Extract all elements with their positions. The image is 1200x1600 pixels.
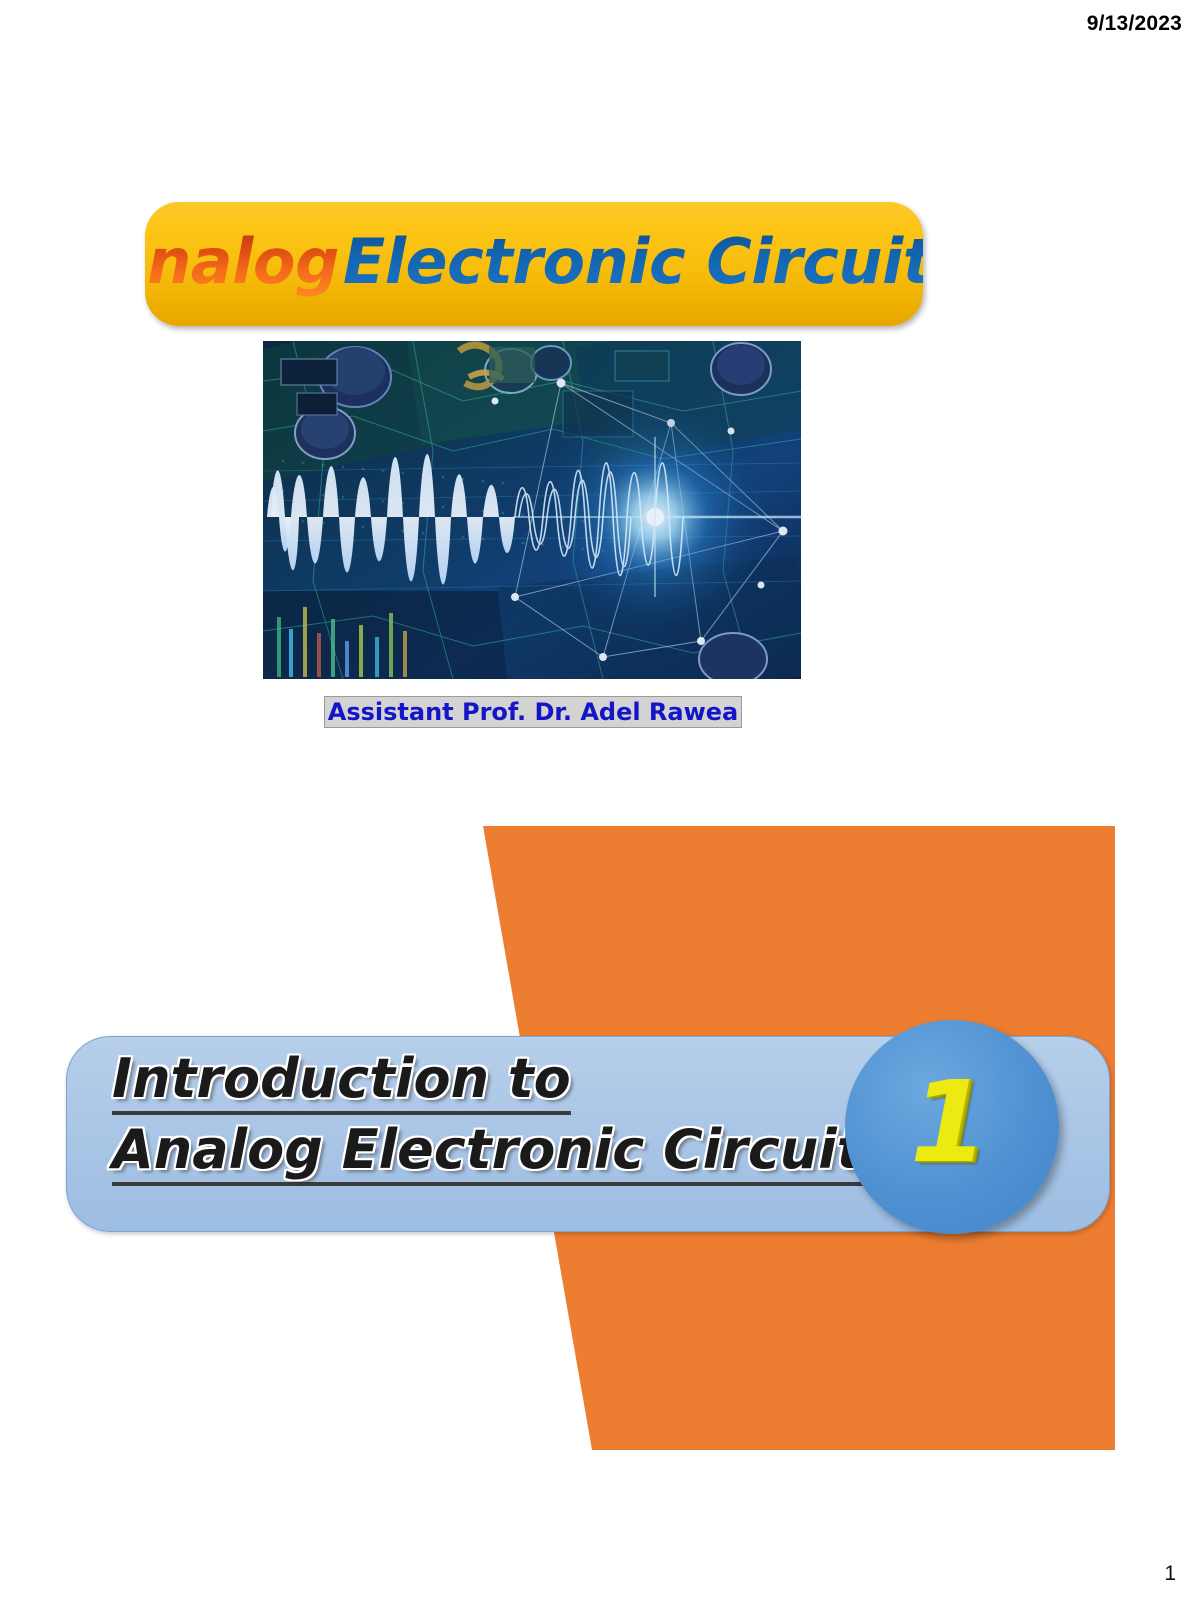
chapter-title-line-2: Analog Electronic Circuits bbox=[112, 1121, 895, 1186]
author-name-plate: Assistant Prof. Dr. Adel Rawea bbox=[324, 696, 742, 728]
chapter-number-circle: 1 bbox=[845, 1020, 1059, 1234]
chapter-number: 1 bbox=[910, 1067, 988, 1179]
circuit-board-photo bbox=[263, 341, 801, 679]
chapter-title-text-group: Introduction to Analog Electronic Circui… bbox=[112, 1050, 852, 1192]
slide-date: 9/13/2023 bbox=[1087, 12, 1182, 36]
course-title-banner: AnalogElectronic Circuits bbox=[145, 202, 923, 326]
course-title-rest-words: Electronic Circuits bbox=[343, 225, 923, 298]
course-title-text: AnalogElectronic Circuits bbox=[145, 231, 923, 293]
page-number: 1 bbox=[1164, 1562, 1176, 1586]
course-title-accent-word: Analog bbox=[145, 225, 343, 298]
chapter-title-line-1: Introduction to bbox=[112, 1050, 571, 1115]
author-name: Assistant Prof. Dr. Adel Rawea bbox=[328, 700, 739, 724]
